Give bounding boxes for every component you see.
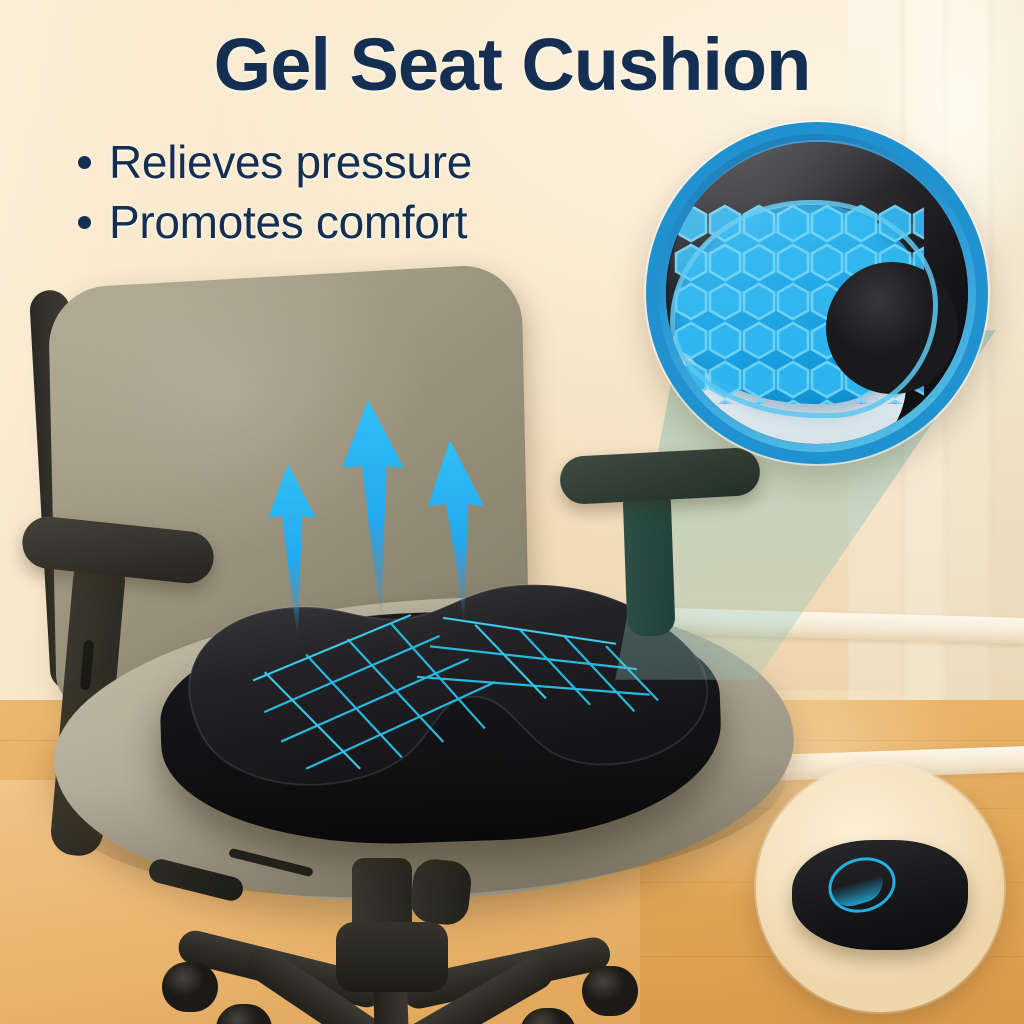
product-hero-inset[interactable]	[756, 764, 1004, 1012]
chair-caster	[162, 962, 218, 1012]
benefit-label: Promotes comfort	[109, 195, 467, 249]
airflow-arrow-center	[342, 400, 404, 622]
benefit-label: Relieves pressure	[109, 135, 472, 189]
airflow-arrows	[238, 392, 538, 654]
product-ad-canvas: Gel Seat Cushion Relieves pressure Promo…	[0, 0, 1024, 1024]
bullet-dot-icon	[78, 156, 91, 169]
chair-right-arm-post	[622, 485, 675, 637]
magnifier-viewport	[666, 142, 968, 444]
inset-cushion-graphic	[792, 826, 968, 952]
chair-base-hub	[336, 922, 448, 992]
list-item: Promotes comfort	[78, 192, 678, 252]
chair-caster	[582, 966, 638, 1016]
airflow-arrow-right	[428, 440, 484, 624]
bullet-dot-icon	[78, 216, 91, 229]
gel-layer-magnifier[interactable]	[646, 122, 988, 464]
page-title: Gel Seat Cushion	[0, 22, 1024, 107]
chair-tilt-knob[interactable]	[409, 857, 473, 927]
airflow-arrow-left	[268, 464, 316, 640]
benefit-list: Relieves pressure Promotes comfort	[78, 132, 678, 252]
list-item: Relieves pressure	[78, 132, 678, 192]
